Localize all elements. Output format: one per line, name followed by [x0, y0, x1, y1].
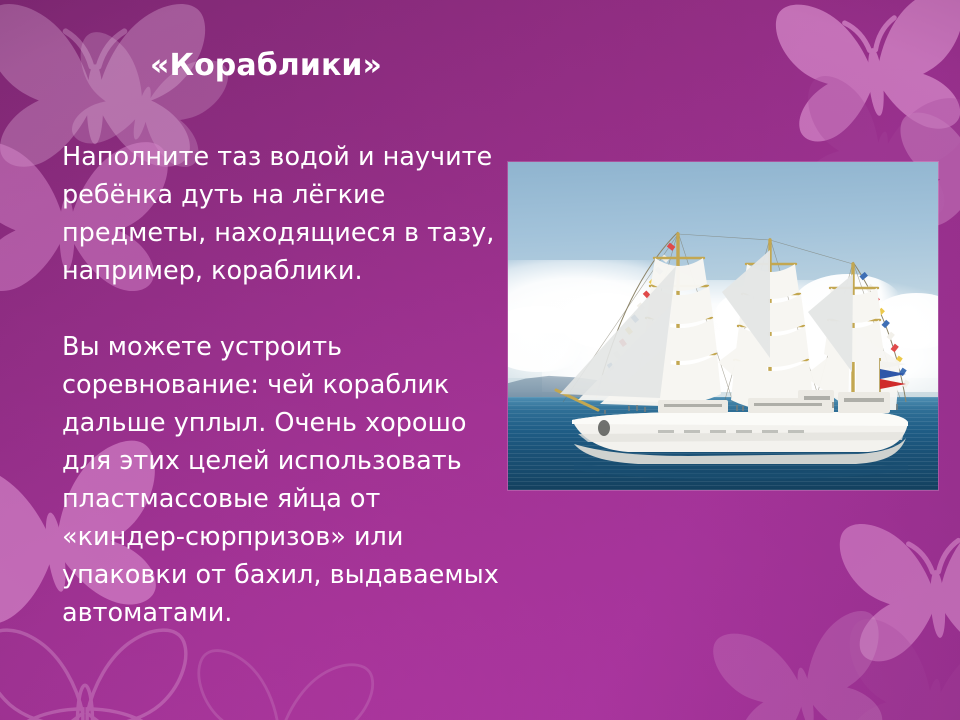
ship-photo: [508, 162, 938, 490]
paragraph: Наполните таз водой и научите ребёнка ду…: [62, 138, 502, 290]
paragraph: Вы можете устроить соревнование: чей кор…: [62, 328, 502, 632]
body-text: Наполните таз водой и научите ребёнка ду…: [62, 138, 502, 632]
slide-canvas: «Кораблики» Наполните таз водой и научит…: [0, 0, 960, 720]
page-title: «Кораблики»: [150, 48, 382, 83]
sailing-ship: [508, 162, 938, 490]
